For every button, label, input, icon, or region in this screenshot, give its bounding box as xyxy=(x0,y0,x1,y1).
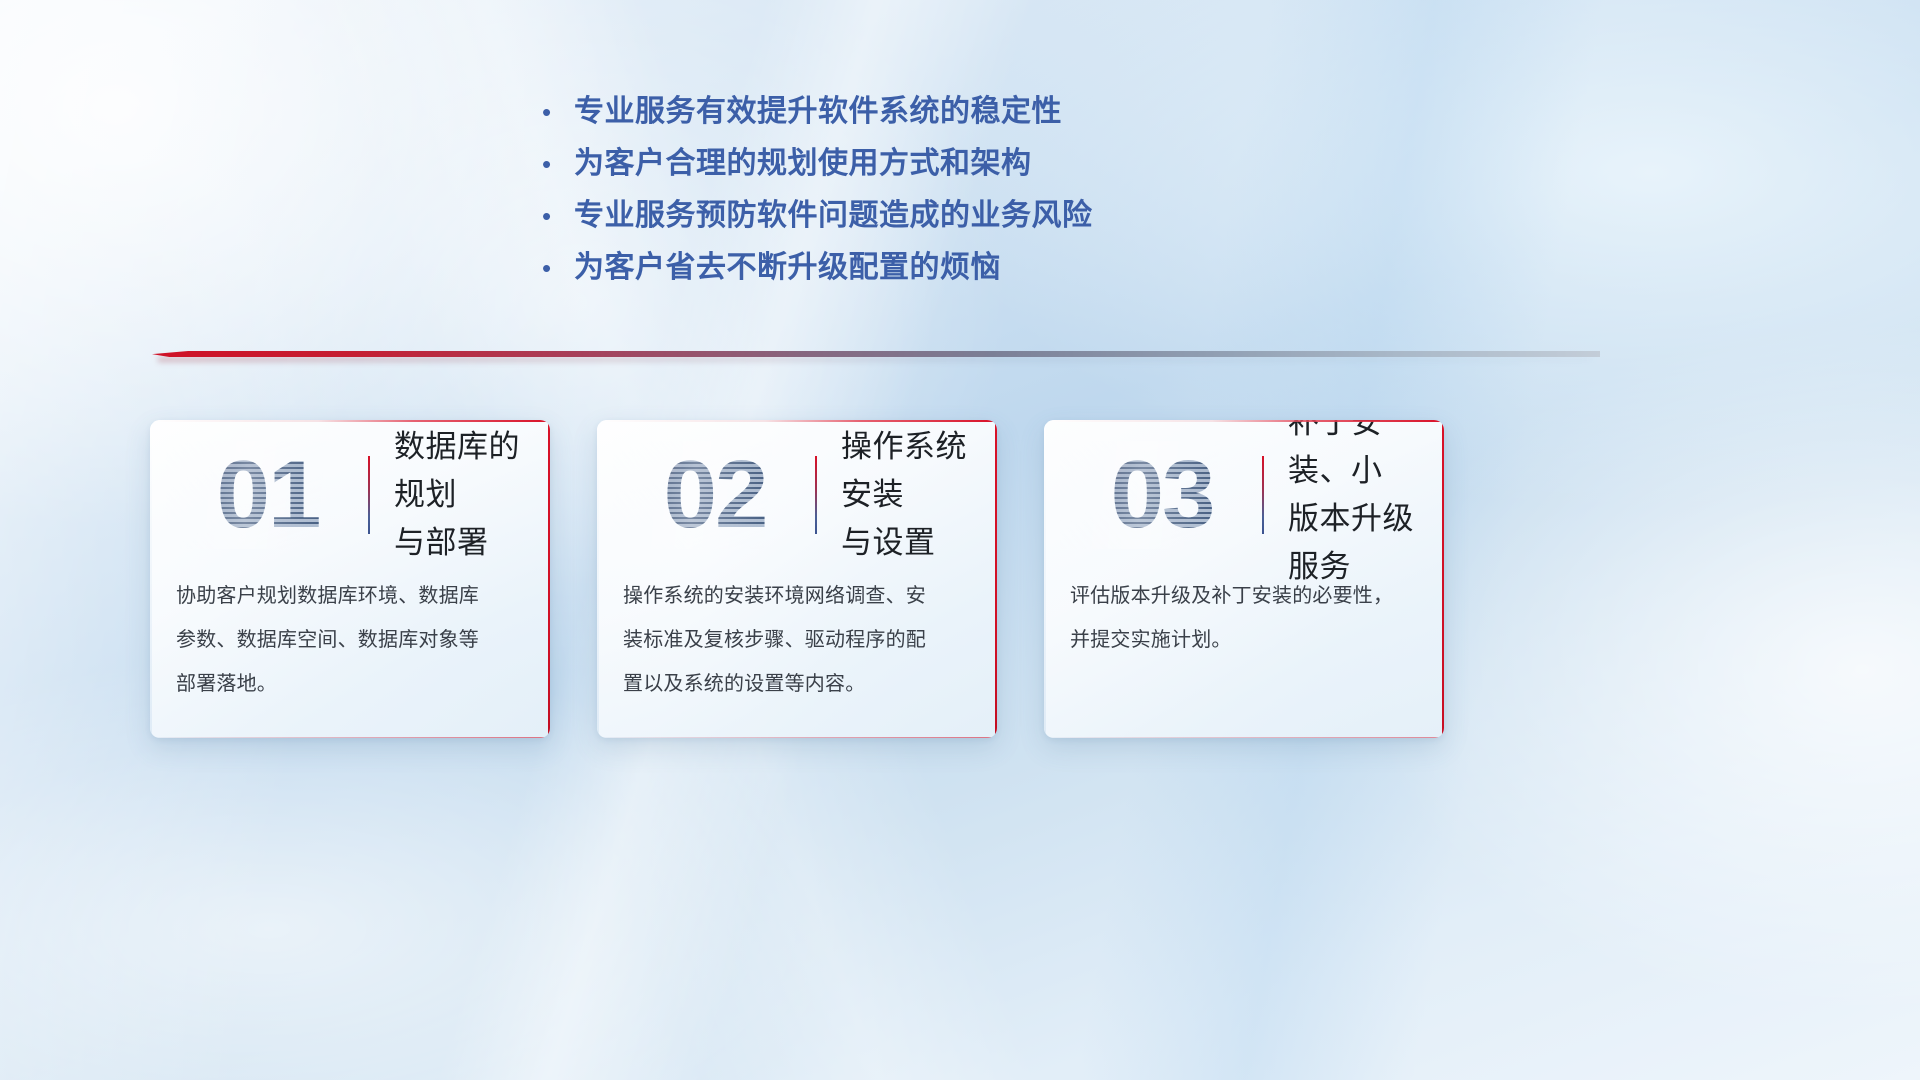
bullet-marker-icon: • xyxy=(536,86,574,138)
service-card[interactable]: 03 补丁安装、小 版本升级服务 评估版本升级及补丁安装的必要性， 并提交实施计… xyxy=(1044,420,1444,738)
list-item: • 专业服务预防软件问题造成的业务风险 xyxy=(536,190,1516,242)
list-item: • 为客户合理的规划使用方式和架构 xyxy=(536,138,1516,190)
bullet-text: 为客户合理的规划使用方式和架构 xyxy=(574,138,1032,190)
card-number: 02 xyxy=(619,447,811,543)
card-title: 补丁安装、小 版本升级服务 xyxy=(1288,420,1444,591)
card-top-accent xyxy=(597,420,997,422)
card-divider-bar xyxy=(815,456,817,534)
bullet-text: 为客户省去不断升级配置的烦恼 xyxy=(574,242,1001,294)
card-title: 操作系统安装 与设置 xyxy=(841,423,997,567)
bullet-text: 专业服务预防软件问题造成的业务风险 xyxy=(574,190,1093,242)
service-card[interactable]: 01 数据库的规划 与部署 协助客户规划数据库环境、数据库 参数、数据库空间、数… xyxy=(150,420,550,738)
card-title: 数据库的规划 与部署 xyxy=(394,423,550,567)
list-item: • 为客户省去不断升级配置的烦恼 xyxy=(536,242,1516,294)
card-header: 02 操作系统安装 与设置 xyxy=(597,420,997,570)
card-number: 03 xyxy=(1066,447,1258,543)
bullet-marker-icon: • xyxy=(536,242,574,294)
card-description: 协助客户规划数据库环境、数据库 参数、数据库空间、数据库对象等 部署落地。 xyxy=(150,570,550,706)
card-left-edge xyxy=(150,420,152,738)
list-item: • 专业服务有效提升软件系统的稳定性 xyxy=(536,86,1516,138)
benefits-bullet-list: • 专业服务有效提升软件系统的稳定性 • 为客户合理的规划使用方式和架构 • 专… xyxy=(536,86,1516,294)
section-divider xyxy=(152,348,1600,364)
bullet-marker-icon: • xyxy=(536,138,574,190)
card-bottom-edge xyxy=(597,737,997,739)
card-top-accent xyxy=(150,420,550,422)
service-card[interactable]: 02 操作系统安装 与设置 操作系统的安装环境网络调查、安 装标准及复核步骤、驱… xyxy=(597,420,997,738)
service-card-list: 01 数据库的规划 与部署 协助客户规划数据库环境、数据库 参数、数据库空间、数… xyxy=(150,420,1602,746)
card-bottom-edge xyxy=(1044,737,1444,739)
card-header: 03 补丁安装、小 版本升级服务 xyxy=(1044,420,1444,570)
card-right-accent xyxy=(548,420,551,738)
card-left-edge xyxy=(597,420,599,738)
card-right-accent xyxy=(995,420,998,738)
bullet-text: 专业服务有效提升软件系统的稳定性 xyxy=(574,86,1062,138)
slide-canvas: • 专业服务有效提升软件系统的稳定性 • 为客户合理的规划使用方式和架构 • 专… xyxy=(0,0,1920,1080)
card-top-accent xyxy=(1044,420,1444,422)
card-description: 操作系统的安装环境网络调查、安 装标准及复核步骤、驱动程序的配 置以及系统的设置… xyxy=(597,570,997,706)
card-header: 01 数据库的规划 与部署 xyxy=(150,420,550,570)
card-divider-bar xyxy=(1262,456,1264,534)
bullet-marker-icon: • xyxy=(536,190,574,242)
divider-shadow xyxy=(158,357,1592,362)
card-divider-bar xyxy=(368,456,370,534)
card-number: 01 xyxy=(172,447,364,543)
card-right-accent xyxy=(1442,420,1445,738)
divider-bar xyxy=(152,351,1600,357)
card-bottom-edge xyxy=(150,737,550,739)
card-left-edge xyxy=(1044,420,1046,738)
